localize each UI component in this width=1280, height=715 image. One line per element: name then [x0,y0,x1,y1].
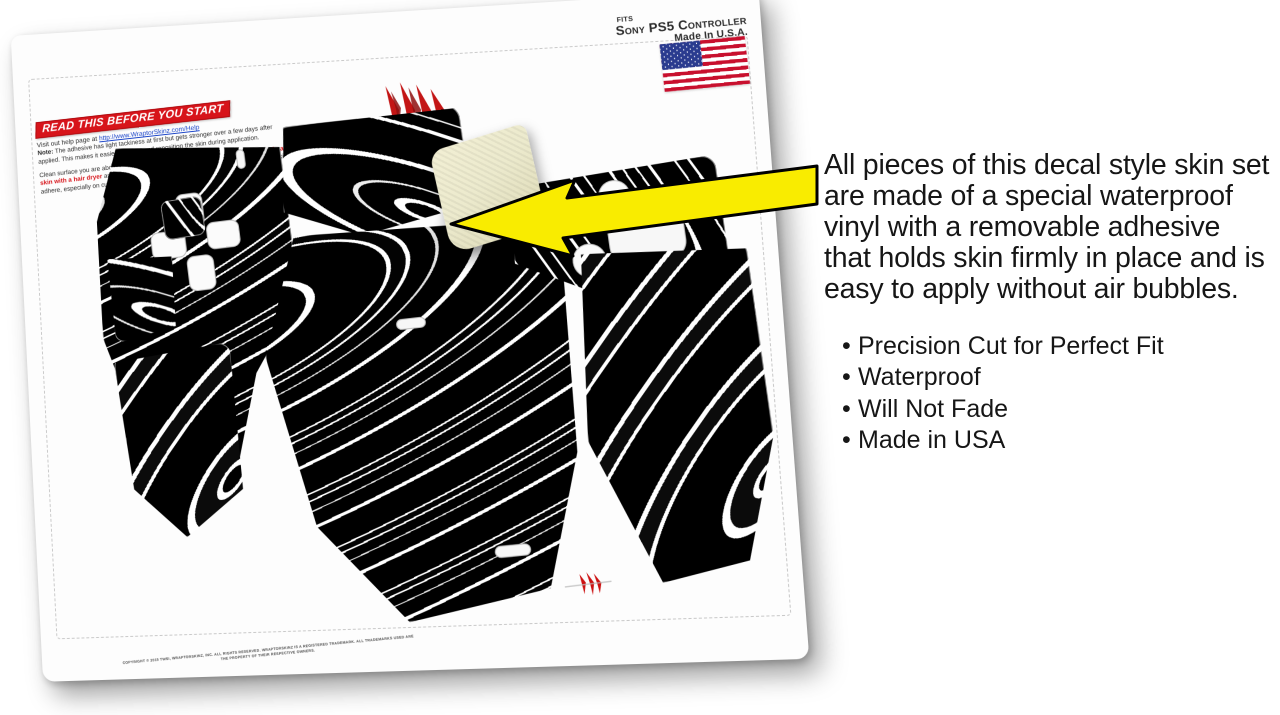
bullet-icon: • [842,362,858,394]
usa-flag-icon [659,36,750,92]
list-item: •Will Not Fade [842,394,1270,426]
note-label: Note: [37,149,53,158]
decal-piece-small-tab [160,196,207,241]
flag-canton [659,40,702,70]
list-item: •Made in USA [842,425,1270,457]
marble-pattern [160,196,207,241]
marketing-paragraph: All pieces of this decal style skin set … [824,150,1270,305]
marketing-copy: All pieces of this decal style skin set … [824,150,1270,457]
list-item: •Precision Cut for Perfect Fit [842,331,1270,363]
feature-label: Will Not Fade [858,395,1008,423]
bullet-icon: • [842,425,858,457]
dpad-down-cutout [187,255,216,291]
bullet-icon: • [842,331,858,363]
list-item: •Waterproof [842,362,1270,394]
feature-label: Made in USA [858,426,1005,454]
feature-label: Precision Cut for Perfect Fit [858,332,1164,360]
left-pointing-arrow-icon [445,160,820,260]
dpad-right-cutout [206,220,240,249]
feature-list: •Precision Cut for Perfect Fit •Waterpro… [842,331,1270,457]
feature-label: Waterproof [858,363,981,391]
decal-skin-sheet: FITS Sony PS5 Controller Made In U.S.A. … [11,0,810,682]
bullet-icon: • [842,394,858,426]
